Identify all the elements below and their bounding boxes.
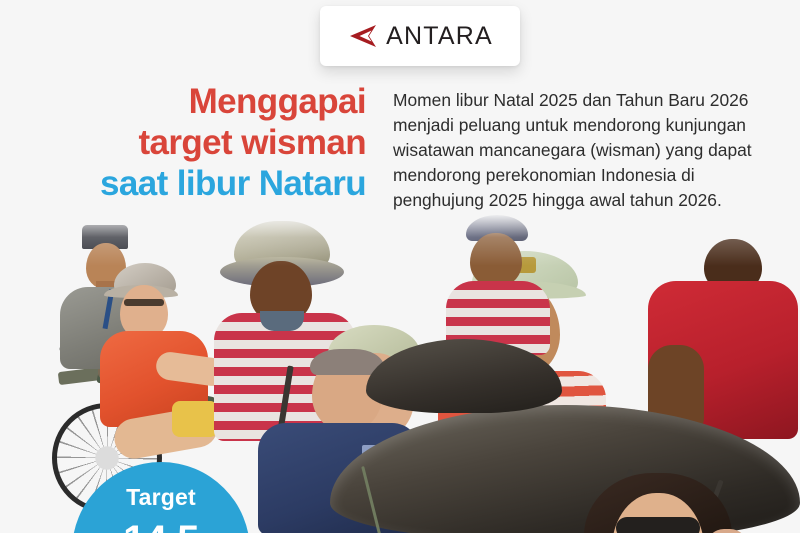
page-title: Menggapai target wisman saat libur Natar… — [20, 82, 366, 205]
antara-triangle-mark-icon — [347, 23, 377, 49]
intro-paragraph: Momen libur Natal 2025 dan Tahun Baru 20… — [393, 88, 783, 212]
infographic-canvas: ANTARA Menggapai target wisman saat libu… — [0, 0, 800, 533]
target-badge-value: 14,5 — [72, 518, 250, 533]
antara-logo: ANTARA — [320, 6, 520, 66]
person-tourist-red-shirt — [648, 239, 798, 439]
antara-wordmark: ANTARA — [386, 22, 493, 51]
target-badge-label: Target — [72, 484, 250, 511]
person-becak-driver-navy-cap — [446, 215, 556, 355]
head — [470, 233, 522, 287]
sunglasses-icon — [124, 299, 164, 306]
headline-line-3: saat libur Nataru — [20, 164, 366, 205]
sunglasses-icon — [616, 517, 700, 533]
antara-logo-card[interactable]: ANTARA — [320, 6, 520, 66]
person-tourist-sunglasses-woman — [570, 473, 750, 533]
headline-line-1: Menggapai — [20, 82, 366, 123]
headline-line-2: target wisman — [20, 123, 366, 164]
person-tourist-orange-cap — [100, 263, 230, 453]
